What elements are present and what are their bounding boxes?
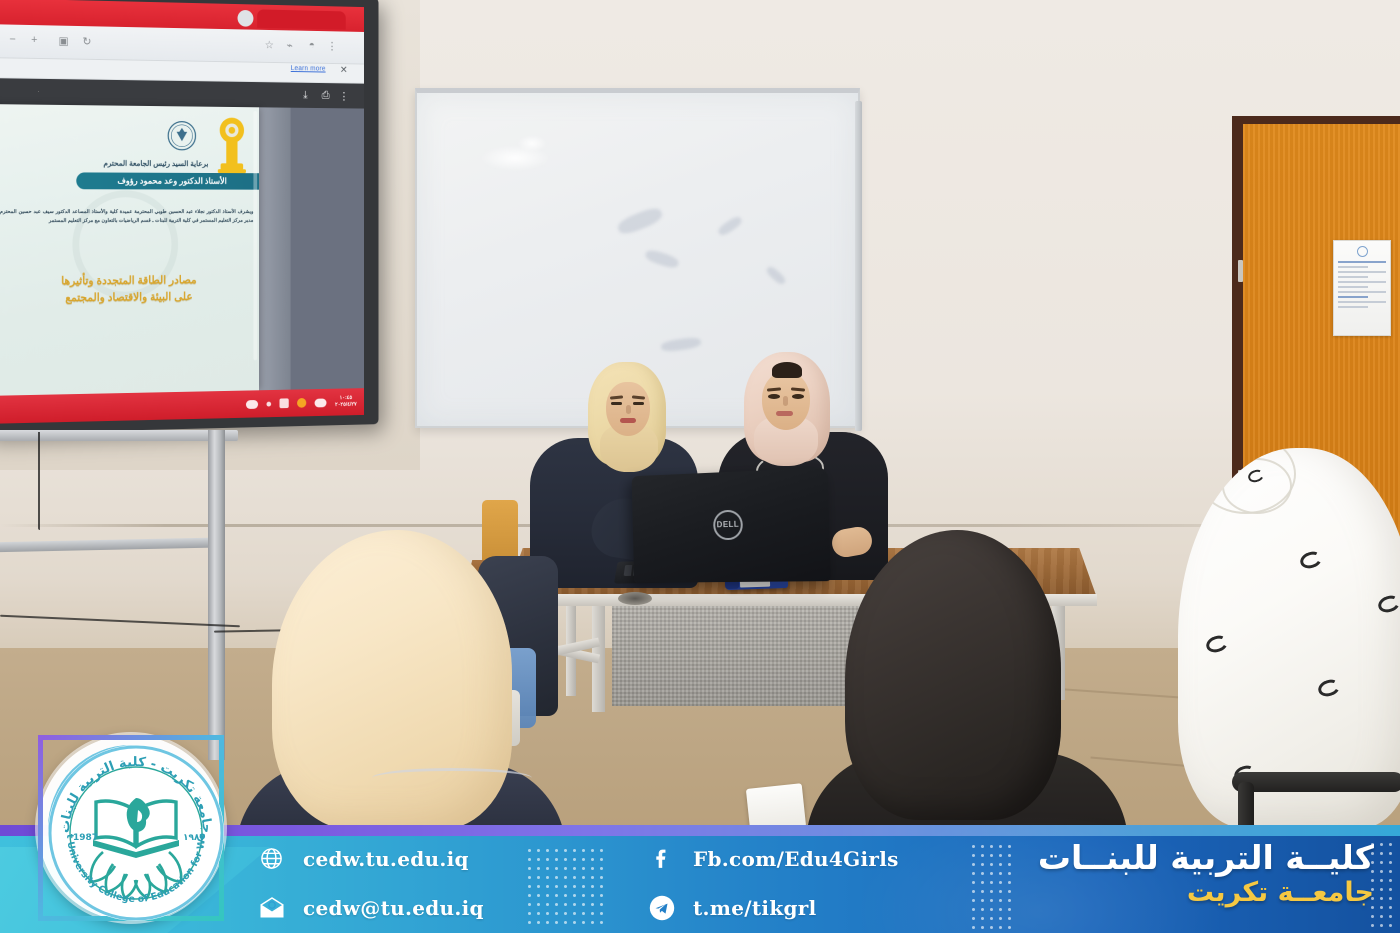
- footer-website-row[interactable]: cedw.tu.edu.iq: [258, 845, 484, 872]
- browser-tab-favicon: [238, 10, 254, 27]
- presenter-typing-eye: [611, 402, 622, 405]
- slide-body-text: ويشرف الأستاذ الدكتور نجلاء عبد الحسين ط…: [0, 208, 253, 226]
- profile-icon[interactable]: ◓: [305, 38, 318, 52]
- learn-more-link[interactable]: Learn more: [291, 65, 326, 72]
- whiteboard-smudge: [716, 215, 743, 238]
- notice-text-line: [1338, 271, 1386, 273]
- footer-telegram-label: t.me/tikgrl: [693, 896, 817, 920]
- orange-icon[interactable]: [297, 398, 306, 408]
- download-icon[interactable]: ⤓: [300, 89, 311, 101]
- slide-patronage-line: برعاية السيد رئيس الجامعة المحترم: [65, 158, 246, 168]
- notice-seal-icon: [1357, 246, 1368, 257]
- cable-grommet: [618, 592, 652, 605]
- whiteboard-smudge: [660, 336, 701, 352]
- footer-contacts-column: cedw.tu.edu.iq cedw@tu.edu.iq: [258, 845, 484, 921]
- browser-menu-icon[interactable]: ⋮: [326, 39, 339, 53]
- notice-text-line: [1338, 261, 1386, 263]
- hijab-motif: [1298, 549, 1324, 571]
- wifi-icon[interactable]: [315, 398, 327, 407]
- clock-date: ٢٠٢٥/٤/٢٧: [335, 402, 357, 409]
- screenshot-root: − + ▣ ↻ ☆ ⌁ ◓ ⋮ Learn more ✕ ⤓ ⎙ ⋮: [0, 0, 1400, 933]
- notice-text-line: [1338, 291, 1386, 293]
- dot-icon: [267, 401, 272, 406]
- hijab-motif: [1204, 633, 1230, 655]
- presenter-seated-nose: [783, 396, 788, 406]
- presenter-seated-eye: [768, 394, 780, 399]
- presenter-seated-hair: [772, 362, 802, 378]
- door-notice-paper: [1333, 240, 1391, 336]
- whiteboard-smudge: [644, 248, 680, 270]
- browser-tab[interactable]: [257, 9, 346, 29]
- audience-right-hijab: [1178, 448, 1400, 828]
- extensions-icon[interactable]: ⌁: [283, 38, 296, 52]
- slide-president-name-bar: الأستاذ الدكتور وعد محمود رؤوف: [76, 172, 259, 189]
- footer-institution-names: كليــة التربية للبنــات جامعــة تكريت: [1038, 839, 1374, 910]
- notice-text-line: [1338, 306, 1368, 308]
- wall-display-screen[interactable]: − + ▣ ↻ ☆ ⌁ ◓ ⋮ Learn more ✕ ⤓ ⎙ ⋮: [0, 0, 379, 434]
- audience-left-collar: [372, 768, 532, 788]
- footer-dot-pattern: [528, 849, 603, 924]
- presentation-slide: برعاية السيد رئيس الجامعة المحترم الأستا…: [0, 104, 259, 396]
- door-hinge: [1238, 260, 1243, 282]
- footer-social-column: Fb.com/Edu4Girls t.me/tikgrl: [648, 845, 899, 921]
- presenter-typing-eye: [633, 402, 644, 405]
- audience-center-hijab: [845, 530, 1061, 820]
- slide-president-name: الأستاذ الدكتور وعد محمود رؤوف: [117, 176, 226, 187]
- bookmark-star-icon[interactable]: ☆: [263, 38, 276, 52]
- notice-text-line: [1338, 296, 1368, 298]
- fit-page-icon[interactable]: ▣: [57, 33, 71, 47]
- footer-email-row[interactable]: cedw@tu.edu.iq: [258, 894, 484, 921]
- logo-year-arabic: ١٩٨٧: [183, 833, 205, 843]
- footer-dot-pattern: [972, 845, 1011, 933]
- university-logo-badge: جامعة تكريت - كلية التربية للبنات Tikrit…: [38, 735, 224, 921]
- dell-logo: DELL: [713, 509, 743, 540]
- notice-text-line: [1338, 301, 1386, 303]
- globe-icon: [258, 845, 285, 872]
- hijab-motif: [1316, 677, 1342, 699]
- telegram-icon: [648, 894, 675, 921]
- notice-text-line: [1338, 276, 1368, 278]
- display-power-cable: [38, 432, 40, 530]
- rotate-icon[interactable]: ↻: [80, 34, 94, 48]
- chair-armrest: [1232, 772, 1400, 792]
- hijab-motif: [1376, 593, 1400, 615]
- zoom-out-icon[interactable]: −: [6, 32, 20, 46]
- slide-title-line-2: على البيئة والاقتصاد والمجتمع: [8, 288, 248, 307]
- footer-facebook-row[interactable]: Fb.com/Edu4Girls: [648, 845, 899, 872]
- pdf-menu-icon[interactable]: ⋮: [338, 90, 349, 102]
- hijab-embroidery: [1222, 458, 1292, 514]
- presenter-typing-nose: [626, 405, 631, 414]
- pdf-viewport[interactable]: برعاية السيد رئيس الجامعة المحترم الأستا…: [0, 104, 364, 396]
- display-stand-pole: [208, 430, 225, 760]
- close-icon[interactable]: ✕: [340, 65, 348, 76]
- footer-telegram-row[interactable]: t.me/tikgrl: [648, 894, 899, 921]
- pdf-gutter-outer: [291, 108, 364, 390]
- facebook-icon: [648, 845, 675, 872]
- battery-icon[interactable]: [280, 398, 289, 408]
- tikrit-university-seal-icon: [167, 120, 197, 152]
- lang-icon[interactable]: [246, 400, 258, 409]
- logo-emblem-icon: جامعة تكريت - كلية التربية للبنات Tikrit…: [43, 740, 229, 926]
- slide-main-title: مصادر الطاقة المتجددة وتأثيرها على البيئ…: [8, 272, 248, 307]
- pdf-scrollbar[interactable]: [253, 111, 257, 360]
- presenter-typing-lips: [620, 418, 636, 423]
- footer-website-label: cedw.tu.edu.iq: [303, 847, 469, 871]
- taskbar-clock[interactable]: ١٠:٤٥ ٢٠٢٥/٤/٢٧: [335, 395, 357, 409]
- print-icon[interactable]: ⎙: [320, 90, 331, 102]
- whiteboard-smudge: [616, 205, 665, 237]
- laptop-lid[interactable]: DELL: [632, 468, 831, 583]
- pdf-gutter: [259, 107, 291, 390]
- footer-college-name: كليــة التربية للبنــات: [1038, 839, 1374, 877]
- footer-email-label: cedw@tu.edu.iq: [303, 896, 484, 920]
- zoom-in-icon[interactable]: +: [27, 33, 41, 47]
- display-screen-content: − + ▣ ↻ ☆ ⌁ ◓ ⋮ Learn more ✕ ⤓ ⎙ ⋮: [0, 0, 364, 424]
- notice-text-line: [1338, 286, 1368, 288]
- footer-facebook-label: Fb.com/Edu4Girls: [693, 847, 899, 871]
- presenter-seated-lips: [776, 411, 793, 416]
- footer-university-name: جامعــة تكريت: [1038, 877, 1374, 909]
- envelope-icon: [258, 894, 285, 921]
- whiteboard-glare-secondary: [517, 135, 547, 152]
- whiteboard-frame-right: [855, 101, 862, 431]
- presenter-seated-eye: [792, 394, 804, 399]
- footer-dot-pattern: [1371, 843, 1392, 933]
- whiteboard-smudge: [765, 265, 787, 286]
- display-stand-crossbar-top: [0, 430, 238, 441]
- logo-year-latin: 1987: [73, 833, 98, 843]
- notice-text-line: [1338, 281, 1386, 283]
- notice-text-line: [1338, 266, 1368, 268]
